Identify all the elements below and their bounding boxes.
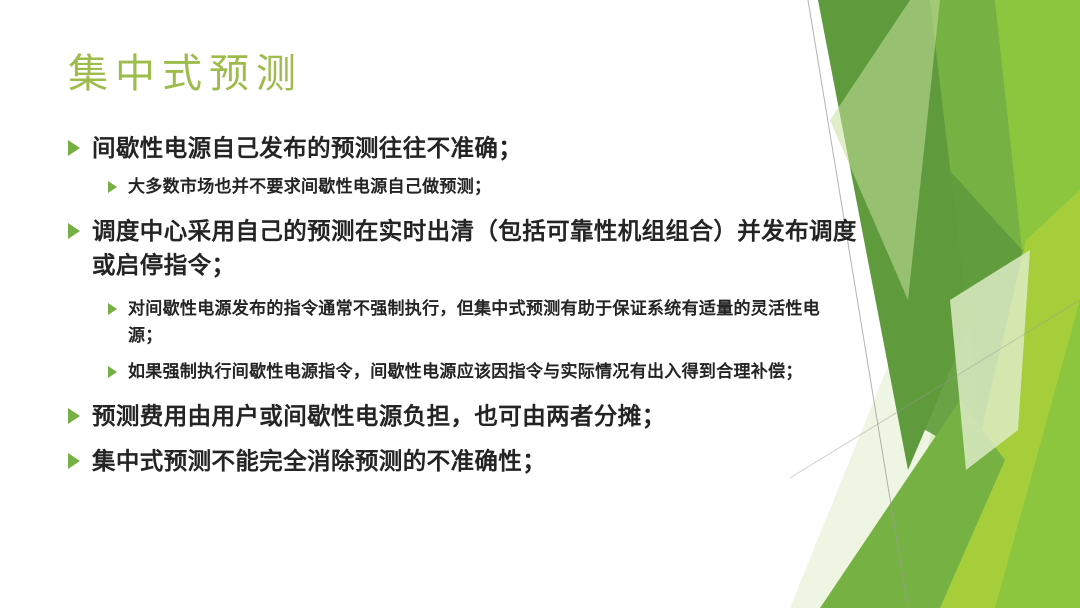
facet-lime-lower-right bbox=[940, 190, 1080, 608]
slide-body: 间歇性电源自己发布的预测往往不准确； 大多数市场也并不要求间歇性电源自己做预测；… bbox=[68, 132, 858, 487]
bullet-text: 如果强制执行间歇性电源指令，间歇性电源应该因指令与实际情况有出入得到合理补偿； bbox=[128, 359, 843, 386]
bullet-text: 集中式预测不能完全消除预测的不准确性； bbox=[92, 445, 858, 478]
triangle-right-icon bbox=[68, 132, 92, 156]
facet-mid-band bbox=[930, 0, 1026, 420]
bullet-item-level1: 调度中心采用自己的预测在实时出清（包括可靠性机组组合）并发布调度或启停指令； bbox=[68, 215, 858, 282]
bullet-item-level2: 大多数市场也并不要求间歇性电源自己做预测； bbox=[108, 174, 858, 201]
bullet-item-level2: 对间歇性电源发布的指令通常不强制执行，但集中式预测有助于保证系统有适量的灵活性电… bbox=[108, 296, 858, 350]
bullet-item-level1: 集中式预测不能完全消除预测的不准确性； bbox=[68, 445, 858, 478]
triangle-right-icon bbox=[108, 174, 128, 193]
bullet-text: 调度中心采用自己的预测在实时出清（包括可靠性机组组合）并发布调度或启停指令； bbox=[92, 215, 858, 282]
bullet-item-level1: 预测费用由用户或间歇性电源负担，也可由两者分摊； bbox=[68, 400, 858, 433]
bullet-item-level2: 如果强制执行间歇性电源指令，间歇性电源应该因指令与实际情况有出入得到合理补偿； bbox=[108, 359, 858, 386]
facet-bright-right-top bbox=[995, 0, 1080, 250]
triangle-right-icon bbox=[68, 215, 92, 239]
bullet-text: 间歇性电源自己发布的预测往往不准确； bbox=[92, 132, 858, 165]
triangle-right-icon bbox=[108, 296, 128, 315]
bullet-text: 预测费用由用户或间歇性电源负担，也可由两者分摊； bbox=[92, 400, 858, 433]
bullet-item-level1: 间歇性电源自己发布的预测往往不准确； bbox=[68, 132, 858, 165]
slide-title: 集中式预测 bbox=[68, 52, 303, 96]
triangle-right-icon bbox=[68, 445, 92, 469]
facet-palest-back bbox=[910, 0, 1080, 608]
facet-bright-lower-right bbox=[995, 300, 1080, 608]
triangle-right-icon bbox=[68, 400, 92, 424]
bullet-text: 对间歇性电源发布的指令通常不强制执行，但集中式预测有助于保证系统有适量的灵活性电… bbox=[128, 296, 843, 350]
slide-canvas: 集中式预测 间歇性电源自己发布的预测往往不准确； 大多数市场也并不要求间歇性电源… bbox=[0, 0, 1080, 608]
facet-pale-centre-overlay bbox=[950, 250, 1030, 470]
bullet-text: 大多数市场也并不要求间歇性电源自己做预测； bbox=[128, 174, 843, 201]
facet-dark-crossing bbox=[908, 160, 1022, 470]
triangle-right-icon bbox=[108, 359, 128, 378]
